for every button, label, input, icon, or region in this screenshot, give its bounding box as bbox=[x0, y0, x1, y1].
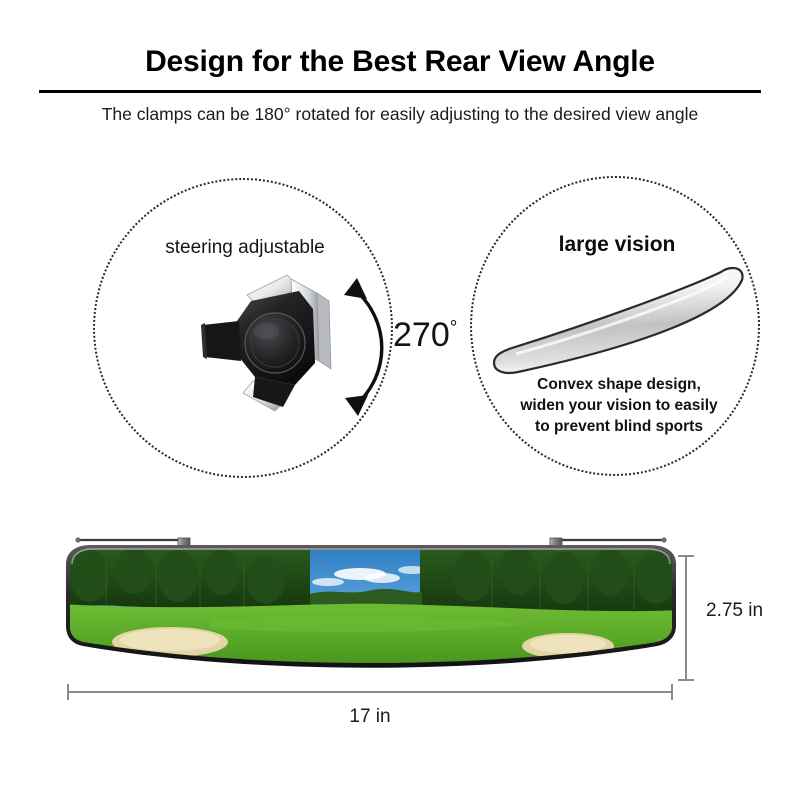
caption-line-3: to prevent blind sports bbox=[494, 416, 744, 437]
header: Design for the Best Rear View Angle The … bbox=[0, 44, 800, 126]
convex-caption: Convex shape design, widen your vision t… bbox=[494, 374, 744, 437]
width-dimension-line bbox=[60, 682, 680, 702]
features-row: steering adjustable bbox=[0, 168, 800, 488]
height-dimension-label: 2.75 in bbox=[706, 600, 763, 622]
mirror-reflection-scene bbox=[60, 545, 680, 680]
title-divider bbox=[39, 90, 761, 93]
product-dimensions-section: 2.75 in 17 in bbox=[0, 520, 800, 750]
feature-circle-vision: large vision Convex shape design, bbox=[470, 176, 760, 476]
page-title: Design for the Best Rear View Angle bbox=[0, 44, 800, 80]
dimension-height: 2.75 in bbox=[676, 548, 796, 688]
rotation-angle-value: 270° bbox=[393, 316, 457, 355]
angle-number: 270 bbox=[393, 316, 450, 354]
steering-adjustable-label: steering adjustable bbox=[95, 237, 395, 259]
degree-symbol: ° bbox=[450, 318, 458, 339]
feature-circle-steering: steering adjustable bbox=[93, 178, 393, 478]
convex-mirror-illustration bbox=[478, 260, 758, 385]
wide-angle-mirror-photo bbox=[60, 530, 680, 690]
caption-line-1: Convex shape design, bbox=[494, 374, 744, 395]
caption-line-2: widen your vision to easily bbox=[494, 395, 744, 416]
large-vision-label: large vision bbox=[472, 233, 762, 257]
width-dimension-label: 17 in bbox=[60, 706, 680, 728]
dimension-width: 17 in bbox=[60, 682, 680, 737]
page-subtitle: The clamps can be 180° rotated for easil… bbox=[0, 102, 800, 126]
rotation-angle-annotation: 270° bbox=[335, 272, 480, 422]
